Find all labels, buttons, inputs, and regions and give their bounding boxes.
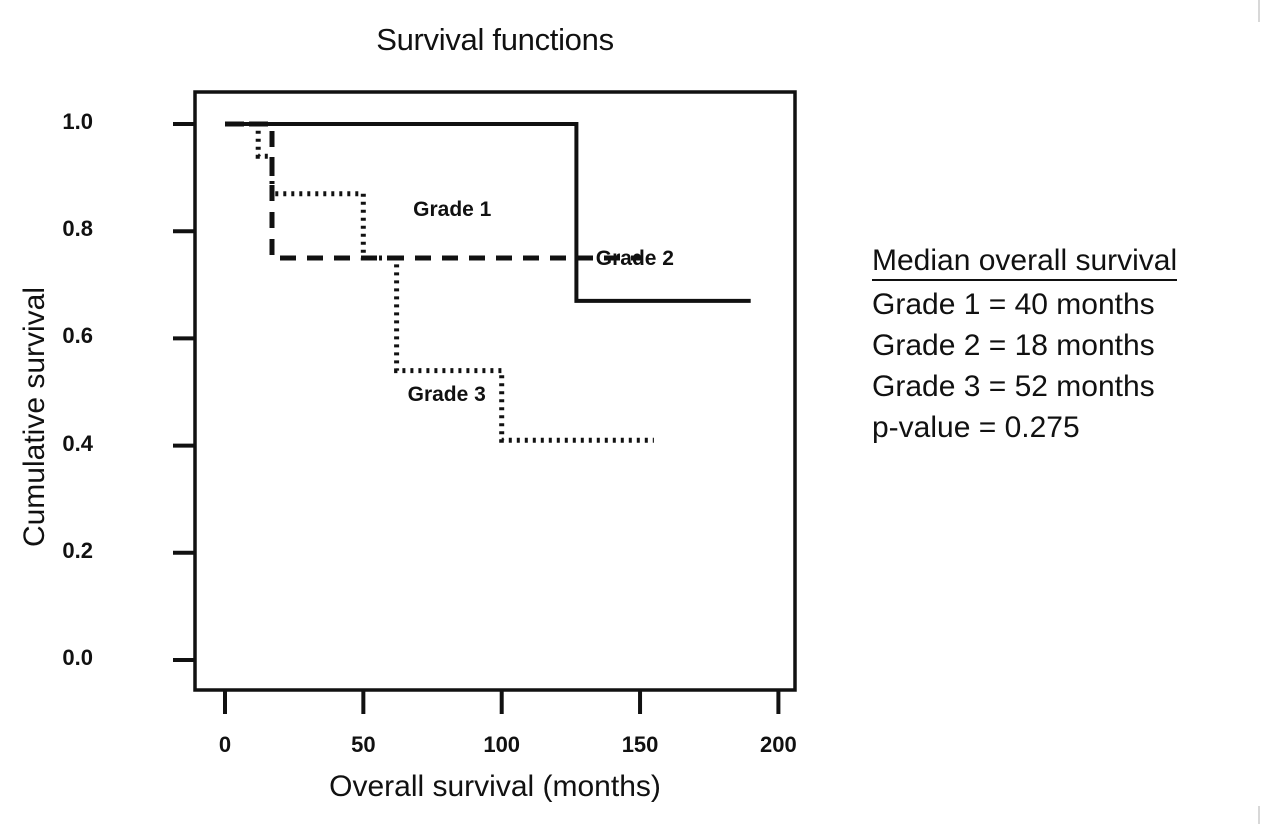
curve-label-grade-2: Grade 2 (596, 247, 674, 271)
y-tick-label: 0.0 (23, 645, 93, 671)
series-line-grade-1 (225, 124, 643, 258)
y-tick-label: 1.0 (23, 109, 93, 135)
series-paths (225, 124, 751, 440)
y-axis-title: Cumulative survival (18, 217, 52, 617)
survival-figure: Survival functions 0.00.20.40.60.81.0050… (0, 0, 1280, 824)
annotation-line-grade-1: Grade 1 = 40 months (872, 288, 1272, 322)
annotation-line-grade-2: Grade 2 = 18 months (872, 329, 1272, 363)
x-axis-title: Overall survival (months) (195, 770, 795, 804)
annotation-line-grade-3: Grade 3 = 52 months (872, 370, 1272, 404)
plot-canvas (0, 0, 840, 824)
scan-edge-mark-top (1258, 0, 1260, 22)
curve-label-grade-3: Grade 3 (408, 383, 486, 407)
median-survival-annotation: Median overall survival Grade 1 = 40 mon… (872, 244, 1272, 445)
x-tick-label: 200 (743, 732, 813, 758)
plot-frame (195, 92, 795, 690)
x-tick-label: 0 (190, 732, 260, 758)
chart-area: Survival functions 0.00.20.40.60.81.0050… (0, 0, 840, 824)
x-tick-label: 150 (605, 732, 675, 758)
annotation-heading: Median overall survival (872, 244, 1177, 281)
x-tick-label: 50 (328, 732, 398, 758)
annotation-line-p-value: p-value = 0.275 (872, 411, 1272, 445)
scan-edge-mark-bottom (1258, 806, 1260, 824)
x-tick-label: 100 (467, 732, 537, 758)
curve-label-grade-1: Grade 1 (413, 198, 491, 222)
